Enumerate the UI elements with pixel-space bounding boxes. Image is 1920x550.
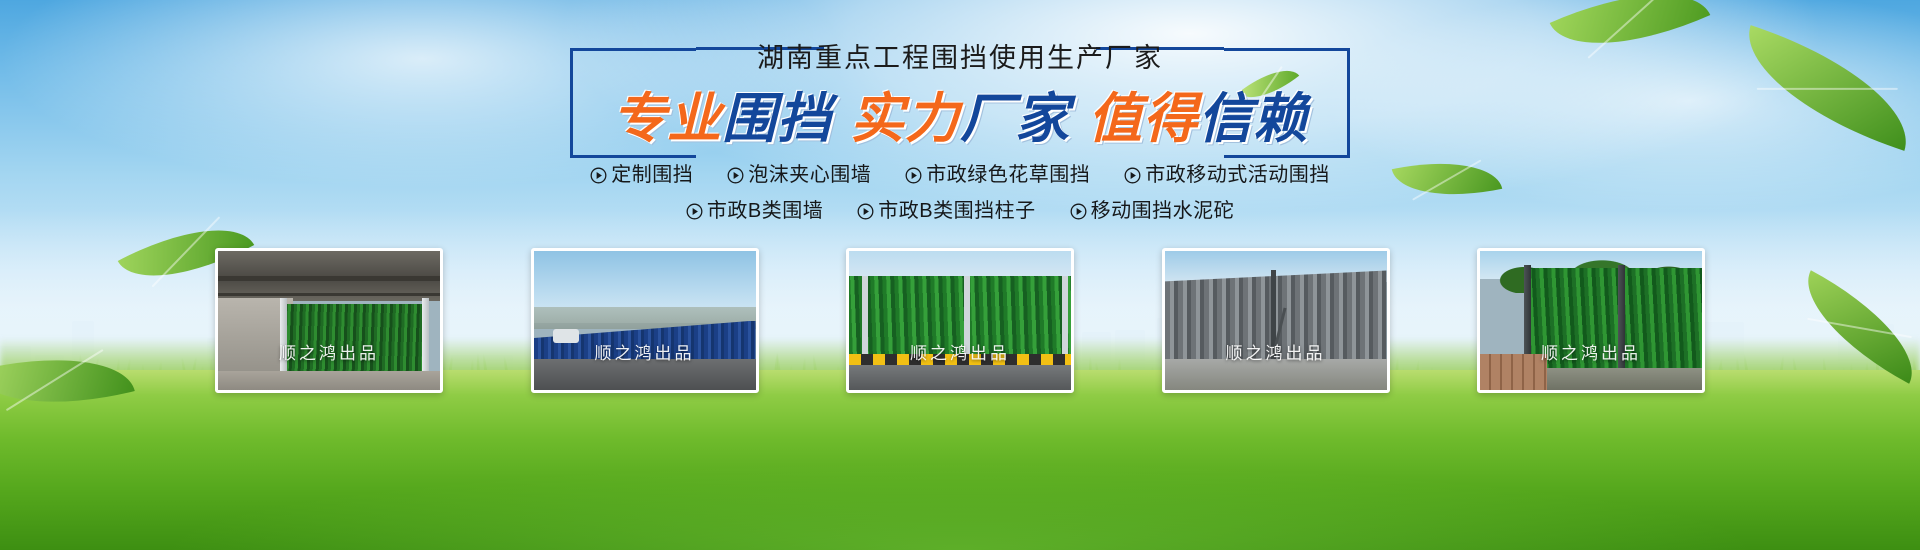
title-segment: 专业 bbox=[612, 89, 722, 149]
title-segment: 厂家 bbox=[960, 89, 1070, 149]
grass-foreground bbox=[0, 370, 1920, 550]
bullet-row: 市政B类围墙市政B类围挡柱子移动围挡水泥砣 bbox=[0, 196, 1920, 226]
thumbnail-image bbox=[534, 251, 756, 390]
product-thumbnail[interactable]: 顺之鸿出品 bbox=[531, 248, 759, 393]
product-thumbnail[interactable]: 顺之鸿出品 bbox=[846, 248, 1074, 393]
thumbnail-image bbox=[218, 251, 440, 390]
feature-bullet-label: 泡沫夹心围墙 bbox=[748, 164, 871, 186]
play-triangle-circle-icon bbox=[590, 167, 607, 184]
product-thumbnail[interactable]: 顺之鸿出品 bbox=[215, 248, 443, 393]
feature-bullet-label: 移动围挡水泥砣 bbox=[1091, 200, 1235, 222]
feature-bullet-list: 定制围挡泡沫夹心围墙市政绿色花草围挡市政移动式活动围挡市政B类围墙市政B类围挡柱… bbox=[0, 160, 1920, 226]
play-triangle-circle-icon bbox=[857, 203, 874, 220]
feature-bullet[interactable]: 移动围挡水泥砣 bbox=[1070, 196, 1235, 226]
title-segment: 值得 bbox=[1088, 89, 1198, 149]
feature-bullet[interactable]: 市政B类围墙 bbox=[686, 196, 823, 226]
feature-bullet[interactable]: 定制围挡 bbox=[590, 160, 693, 190]
feature-bullet-label: 定制围挡 bbox=[611, 164, 693, 186]
feature-bullet[interactable]: 市政B类围挡柱子 bbox=[857, 196, 1035, 226]
play-triangle-circle-icon bbox=[686, 203, 703, 220]
feature-bullet-label: 市政移动式活动围挡 bbox=[1145, 164, 1330, 186]
title-segment: 信赖 bbox=[1198, 89, 1308, 149]
banner-subtitle: 湖南重点工程围挡使用生产厂家 bbox=[570, 41, 1350, 75]
banner-main-title: 专业围挡实力厂家值得信赖 bbox=[570, 86, 1350, 152]
play-triangle-circle-icon bbox=[905, 167, 922, 184]
feature-bullet-label: 市政B类围挡柱子 bbox=[878, 200, 1035, 222]
product-thumbnail-strip: 顺之鸿出品 顺之鸿出品 顺之鸿出品 bbox=[215, 248, 1705, 393]
play-triangle-circle-icon bbox=[1124, 167, 1141, 184]
bullet-row: 定制围挡泡沫夹心围墙市政绿色花草围挡市政移动式活动围挡 bbox=[0, 160, 1920, 190]
thumbnail-image bbox=[1480, 251, 1702, 390]
thumbnail-image bbox=[849, 251, 1071, 390]
title-segment: 实力 bbox=[850, 89, 960, 149]
feature-bullet[interactable]: 泡沫夹心围墙 bbox=[727, 160, 871, 190]
feature-bullet-label: 市政B类围墙 bbox=[707, 200, 823, 222]
product-thumbnail[interactable]: 顺之鸿出品 bbox=[1162, 248, 1390, 393]
promo-banner: 湖南重点工程围挡使用生产厂家 专业围挡实力厂家值得信赖 定制围挡泡沫夹心围墙市政… bbox=[0, 0, 1920, 550]
thumbnail-image bbox=[1165, 251, 1387, 390]
headline-block: 湖南重点工程围挡使用生产厂家 专业围挡实力厂家值得信赖 bbox=[0, 48, 1920, 158]
play-triangle-circle-icon bbox=[727, 167, 744, 184]
headline-frame: 湖南重点工程围挡使用生产厂家 专业围挡实力厂家值得信赖 bbox=[570, 48, 1350, 158]
product-thumbnail[interactable]: 顺之鸿出品 bbox=[1477, 248, 1705, 393]
title-segment: 围挡 bbox=[722, 89, 832, 149]
feature-bullet[interactable]: 市政移动式活动围挡 bbox=[1124, 160, 1330, 190]
feature-bullet-label: 市政绿色花草围挡 bbox=[926, 164, 1090, 186]
play-triangle-circle-icon bbox=[1070, 203, 1087, 220]
feature-bullet[interactable]: 市政绿色花草围挡 bbox=[905, 160, 1090, 190]
